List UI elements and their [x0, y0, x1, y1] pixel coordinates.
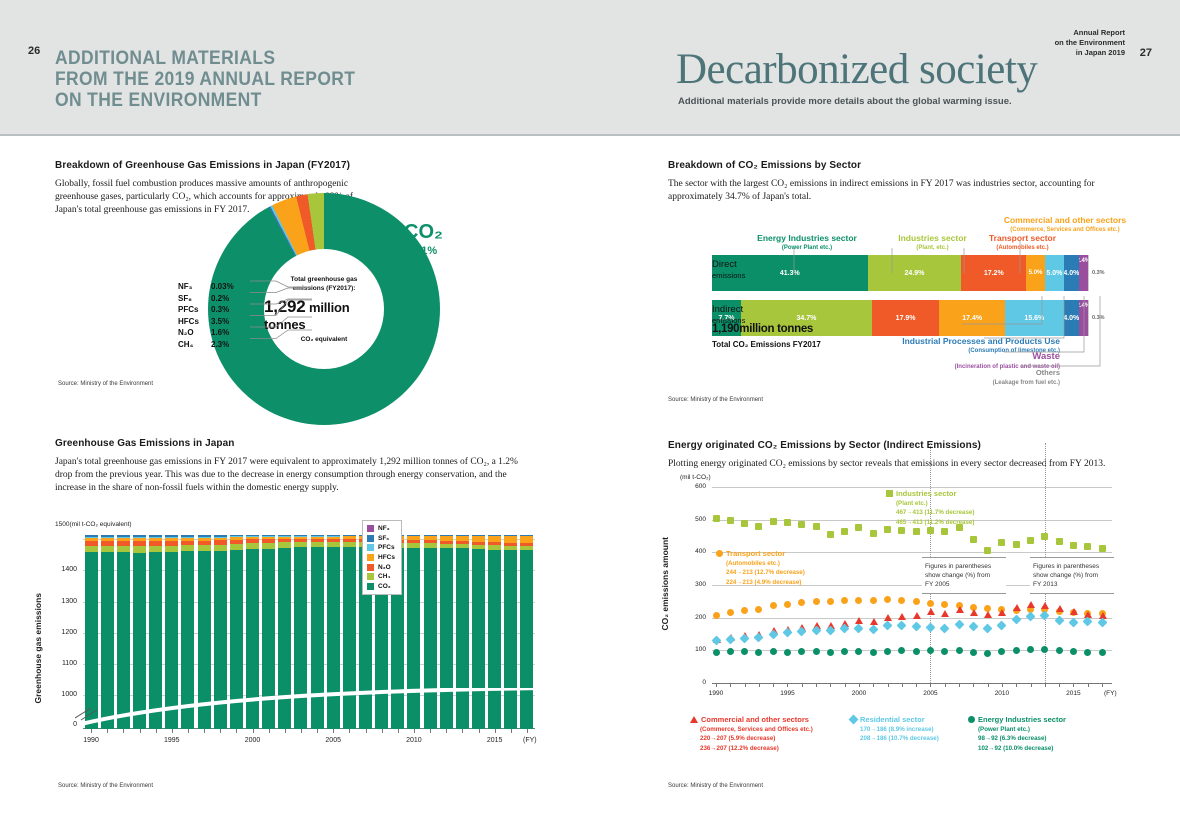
ghg-x-tick [140, 729, 141, 733]
ghg-stacked-bar-chart: 1500(mil t-CO₂ equivalent) Greenhouse ga… [55, 533, 535, 758]
scatter-data-point [984, 547, 991, 554]
scatter-data-point [927, 608, 935, 615]
scatter-data-point [954, 619, 964, 629]
ghg-legend-item: SF₆ [367, 534, 395, 544]
scatter-data-point [1099, 649, 1106, 656]
source-scatter: Source: Ministry of the Environment [668, 783, 763, 789]
scatter-data-point [1070, 648, 1077, 655]
scatter-x-tick [787, 683, 788, 687]
donut-legend-gas: NF₃ [178, 282, 211, 291]
scatter-legend-item: Commercial and other sectors(Commerce, S… [690, 715, 813, 753]
scatter-data-point [1026, 612, 1036, 622]
ghg-x-tick [430, 729, 431, 733]
scatter-legend-header: Energy Industries sector [968, 715, 1066, 725]
ghg-legend: NF₃SF₆PFCsHFCsN₂OCH₄CO₂ [362, 520, 402, 595]
scatter-data-point [913, 528, 920, 535]
scatter-x-tick [816, 683, 817, 687]
scatter-x-tick [1088, 683, 1089, 687]
scatter-x-tick [916, 683, 917, 687]
scatter-legend-name: Transport sector [726, 549, 785, 558]
ghg-legend-label: CH₄ [378, 573, 391, 580]
scatter-data-point [941, 648, 948, 655]
donut-legend-value: 1.6% [211, 328, 251, 337]
scatter-data-point [956, 647, 963, 654]
header-band: 26 ADDITIONAL MATERIALS FROM THE 2019 AN… [0, 0, 1180, 136]
scatter-x-tick [873, 683, 874, 687]
ghg-x-tick [236, 729, 237, 733]
scatter-annotation-line: show change (%) from [1033, 571, 1111, 580]
donut-legend-value: 3.5% [211, 317, 251, 326]
scatter-data-point [956, 606, 964, 613]
scatter-legend-sub: (Commerce, Services and Offices etc.) [700, 725, 813, 735]
right-page-subtitle: Additional materials provide more detail… [678, 96, 1012, 107]
scatter-data-point [970, 609, 978, 616]
scatter-x-tick [973, 683, 974, 687]
scatter-y-tick-label: 500 [680, 516, 706, 523]
scatter-annotation: Figures in parenthesesshow change (%) fr… [922, 557, 1006, 594]
report-meta-line-3: in Japan 2019 [1055, 48, 1125, 58]
scatter-legend-marker-icon [849, 715, 859, 725]
ghg-y-tick-label-zero: 0 [53, 721, 77, 728]
scatter-data-point [841, 597, 848, 604]
scatter-y-axis-title: CO₂ emissions amount [660, 537, 670, 631]
scatter-legend-header: Commercial and other sectors [690, 715, 813, 725]
scatter-data-point [770, 648, 777, 655]
scatter-data-point [884, 648, 891, 655]
source-sector: Source: Ministry of the Environment [668, 397, 763, 403]
scatter-data-point [870, 530, 877, 537]
scatter-data-point [984, 650, 991, 657]
scatter-data-point [741, 520, 748, 527]
donut-legend-value: 0.03% [211, 282, 251, 291]
left-page-title: ADDITIONAL MATERIALS FROM THE 2019 ANNUA… [55, 48, 355, 111]
scatter-legend-marker-icon [968, 716, 975, 723]
scatter-x-tick [945, 683, 946, 687]
ghg-y-tick-label: 1400 [53, 566, 77, 573]
sector-callout-name: Others [1036, 368, 1060, 377]
scatter-data-point [1013, 541, 1020, 548]
ghg-legend-label: N₂O [378, 564, 391, 571]
scatter-data-point [741, 648, 748, 655]
scatter-legend-fig2: 465→413 (11.2% decrease) [896, 518, 974, 528]
ghg-legend-item: PFCs [367, 543, 395, 553]
scatter-data-point [941, 610, 949, 617]
ghg-x-tick [511, 729, 512, 733]
scatter-data-point [883, 621, 893, 631]
scatter-data-point [784, 649, 791, 656]
ghg-axis-break-curve [81, 688, 551, 728]
scatter-y-tick-label: 200 [680, 614, 706, 621]
scatter-data-point [898, 647, 905, 654]
scatter-data-point [940, 624, 950, 634]
donut-legend-value: 2.3% [211, 340, 251, 349]
panel-title-ghg-timeseries: Greenhouse Gas Emissions in Japan [55, 438, 535, 449]
scatter-legend-fig2: 224→213 (4.9% decrease) [726, 578, 805, 588]
ghg-x-tick [269, 729, 270, 733]
ghg-y-tick-label: 1300 [53, 598, 77, 605]
scatter-data-point [727, 517, 734, 524]
scatter-gridline [712, 683, 1112, 684]
scatter-data-point [897, 620, 907, 630]
scatter-x-tick [745, 683, 746, 687]
ghg-legend-swatch [367, 573, 374, 580]
scatter-x-tick-label: 2015 [1062, 690, 1084, 697]
scatter-legend-name: Industries sector [896, 489, 956, 498]
right-page-title: Decarbonized society [676, 45, 1037, 94]
ghg-legend-label: HFCs [378, 554, 395, 561]
panel-title-sector: Breakdown of CO₂ Emissions by Sector [668, 160, 1118, 171]
ghg-x-tick [172, 729, 173, 733]
scatter-data-point [997, 620, 1007, 630]
ghg-y-tick-label: 1100 [53, 660, 77, 667]
scatter-legend-header: Transport sector [716, 549, 805, 559]
page-number-left: 26 [28, 45, 40, 57]
scatter-legend-fig2: 102→92 (10.0% decrease) [978, 744, 1066, 754]
ghg-bar-segment [101, 546, 114, 553]
scatter-data-point [1013, 604, 1021, 611]
scatter-annotation-line: FY 2013 [1033, 580, 1111, 589]
scatter-legend-marker-icon [690, 716, 698, 723]
scatter-x-tick [830, 683, 831, 687]
left-title-line-3: ON THE ENVIRONMENT [55, 90, 355, 111]
report-meta: Annual Report on the Environment in Japa… [1055, 28, 1125, 58]
scatter-data-point [927, 600, 934, 607]
ghg-x-tick-label: 2000 [241, 737, 265, 744]
ghg-legend-swatch [367, 583, 374, 590]
scatter-data-point [855, 597, 862, 604]
scatter-data-point [927, 647, 934, 654]
ghg-x-tick [156, 729, 157, 733]
ghg-bar-segment [117, 546, 130, 553]
scatter-x-tick [1031, 683, 1032, 687]
scatter-x-tick [759, 683, 760, 687]
ghg-bar-segment [85, 546, 98, 553]
ghg-legend-label: NF₃ [378, 525, 390, 532]
ghg-x-unit-label: (FY) [523, 737, 537, 744]
scatter-data-point [727, 648, 734, 655]
ghg-legend-item: N₂O [367, 562, 395, 572]
donut-legend-value: 0.3% [211, 305, 251, 314]
scatter-data-point [713, 649, 720, 656]
scatter-data-point [755, 649, 762, 656]
scatter-legend-fig1: 244→213 (12.7% decrease) [726, 568, 805, 578]
scatter-legend-sub: (Plant etc.) [896, 499, 974, 509]
sector-callout-name: Commercial and other sectors [1004, 215, 1126, 225]
scatter-data-point [813, 523, 820, 530]
scatter-data-point [941, 528, 948, 535]
report-meta-line-2: on the Environment [1055, 38, 1125, 48]
scatter-data-point [970, 649, 977, 656]
ghg-x-tick [253, 729, 254, 733]
scatter-legend-item: Industries sector(Plant etc.)467→413 (11… [886, 489, 974, 527]
scatter-legend-sub: (Power Plant etc.) [978, 725, 1066, 735]
scatter-data-point [913, 612, 921, 619]
scatter-data-point [1027, 601, 1035, 608]
scatter-x-tick [888, 683, 889, 687]
donut-legend-gas: CH₄ [178, 340, 211, 349]
ghg-x-tick [446, 729, 447, 733]
ghg-legend-label: SF₆ [378, 535, 389, 542]
scatter-x-tick-label: 1990 [705, 690, 727, 697]
scatter-x-tick [959, 683, 960, 687]
scatter-data-point [784, 519, 791, 526]
ghg-legend-label: CO₂ [378, 583, 391, 590]
ghg-x-tick-label: 2015 [483, 737, 507, 744]
scatter-y-unit: (mil t-CO₂) [680, 474, 711, 481]
scatter-x-tick [802, 683, 803, 687]
scatter-x-tick [1045, 683, 1046, 687]
scatter-data-point [870, 649, 877, 656]
scatter-data-point [784, 601, 791, 608]
scatter-x-tick [930, 683, 931, 687]
ghg-legend-item: CO₂ [367, 582, 395, 592]
scatter-y-tick-label: 400 [680, 548, 706, 555]
scatter-data-point [727, 609, 734, 616]
scatter-data-point [884, 596, 891, 603]
scatter-data-point [755, 523, 762, 530]
scatter-x-tick [1102, 683, 1103, 687]
scatter-data-point [827, 531, 834, 538]
scatter-legend-name: Commercial and other sectors [701, 715, 809, 724]
scatter-legend-fig1: 467→413 (11.7% decrease) [896, 508, 974, 518]
scatter-data-point [798, 648, 805, 655]
ghg-y-unit: 1500(mil t-CO₂ equivalent) [55, 521, 132, 528]
scatter-data-point [913, 598, 920, 605]
scatter-data-point [968, 622, 978, 632]
scatter-legend-item: Transport sector(Automobiles etc.)244→21… [716, 549, 805, 587]
scatter-data-point [970, 536, 977, 543]
scatter-x-tick-label: 2000 [848, 690, 870, 697]
scatter-data-point [813, 648, 820, 655]
source-ghg-timeseries: Source: Ministry of the Environment [58, 783, 153, 789]
ghg-x-tick-label: 1995 [160, 737, 184, 744]
scatter-y-tick-label: 300 [680, 581, 706, 588]
panel-sector-breakdown: Breakdown of CO₂ Emissions by Sector The… [668, 160, 1118, 204]
scatter-annotation-line: show change (%) from [925, 571, 1003, 580]
scatter-legend-marker-icon [716, 550, 723, 557]
donut-legend-gas: HFCs [178, 317, 211, 326]
sector-callout-sub: (Leakage from fuel etc.) [870, 378, 1060, 388]
sector-callout-bottom: Others(Leakage from fuel etc.) [870, 368, 1060, 388]
ghg-x-tick [317, 729, 318, 733]
scatter-data-point [868, 624, 878, 634]
scatter-x-tick [859, 683, 860, 687]
scatter-legend-name: Residential sector [860, 715, 925, 724]
scatter-y-tick-label: 0 [680, 679, 706, 686]
scatter-data-point [1056, 538, 1063, 545]
scatter-legend-fig1: 170→186 (8.9% increase) [860, 725, 939, 735]
ghg-x-tick-label: 2005 [321, 737, 345, 744]
donut-legend-gas: PFCs [178, 305, 211, 314]
scatter-data-point [1013, 647, 1020, 654]
scatter-data-point [798, 521, 805, 528]
scatter-data-point [798, 599, 805, 606]
scatter-data-point [1054, 615, 1064, 625]
panel-desc-ghg-timeseries: Japan's total greenhouse gas emissions i… [55, 456, 535, 495]
scatter-data-point [713, 515, 720, 522]
ghg-x-tick [479, 729, 480, 733]
ghg-x-tick [495, 729, 496, 733]
panel-energy-co2-scatter: Energy originated CO₂ Emissions by Secto… [668, 440, 1138, 471]
scatter-data-point [741, 607, 748, 614]
scatter-legend-header: Industries sector [886, 489, 974, 499]
ghg-x-tick-label: 2010 [402, 737, 426, 744]
scatter-data-point [998, 609, 1006, 616]
ghg-y-tick-label: 1000 [53, 691, 77, 698]
scatter-data-point [813, 598, 820, 605]
energy-co2-scatter-chart: (mil t-CO₂) CO₂ emissions amount 6005004… [690, 487, 1120, 709]
ghg-legend-swatch [367, 554, 374, 561]
ghg-x-tick [414, 729, 415, 733]
scatter-legend-fig2: 208→186 (10.7% decrease) [860, 734, 939, 744]
ghg-x-tick [123, 729, 124, 733]
panel-title-ghg-breakdown: Breakdown of Greenhouse Gas Emissions in… [55, 160, 355, 171]
scatter-data-point [1070, 608, 1078, 615]
donut-legend-value: 0.2% [211, 294, 251, 303]
ghg-bar-segment [520, 536, 533, 543]
scatter-data-point [827, 598, 834, 605]
ghg-x-tick [462, 729, 463, 733]
ghg-x-tick [107, 729, 108, 733]
scatter-data-point [1041, 646, 1048, 653]
ghg-x-tick [398, 729, 399, 733]
ghg-legend-item: CH₄ [367, 572, 395, 582]
scatter-data-point [925, 623, 935, 633]
scatter-x-tick [773, 683, 774, 687]
donut-leader-lines [250, 275, 320, 347]
scatter-legend-fig1: 220→207 (5.9% decrease) [700, 734, 813, 744]
scatter-x-tick [902, 683, 903, 687]
panel-title-scatter: Energy originated CO₂ Emissions by Secto… [668, 440, 1138, 451]
page-number-right: 27 [1140, 47, 1152, 59]
scatter-x-tick [1002, 683, 1003, 687]
panel-desc-scatter: Plotting energy originated CO₂ emissions… [668, 458, 1138, 471]
scatter-annotation-line: Figures in parentheses [1033, 562, 1111, 571]
scatter-data-point [841, 528, 848, 535]
scatter-x-tick [988, 683, 989, 687]
scatter-legend-name: Energy Industries sector [978, 715, 1066, 724]
scatter-data-point [1027, 537, 1034, 544]
scatter-legend-fig1: 98→92 (6.3% decrease) [978, 734, 1066, 744]
scatter-data-point [870, 597, 877, 604]
scatter-data-point [1083, 616, 1093, 626]
ghg-legend-swatch [367, 525, 374, 532]
ghg-legend-swatch [367, 564, 374, 571]
scatter-x-tick [730, 683, 731, 687]
donut-legend-gas: N₂O [178, 328, 211, 337]
ghg-x-tick [301, 729, 302, 733]
scatter-data-point [755, 606, 762, 613]
scatter-x-tick [1016, 683, 1017, 687]
scatter-data-point [1084, 543, 1091, 550]
scatter-legend-marker-icon [886, 490, 893, 497]
scatter-annotation-line: Figures in parentheses [925, 562, 1003, 571]
panel-desc-sector: The sector with the largest CO₂ emission… [668, 178, 1118, 204]
scatter-data-point [898, 597, 905, 604]
sector-leader-lines [712, 228, 1132, 368]
scatter-data-point [1041, 533, 1048, 540]
scatter-x-unit-label: (FY) [1104, 690, 1117, 697]
scatter-data-point [984, 611, 992, 618]
scatter-y-tick-label: 600 [680, 483, 706, 490]
donut-legend-gas: SF₆ [178, 294, 211, 303]
ghg-x-tick [91, 729, 92, 733]
scatter-x-tick [1073, 683, 1074, 687]
ghg-x-tick [204, 729, 205, 733]
scatter-legend-item: Residential sector170→186 (8.9% increase… [850, 715, 939, 744]
scatter-data-point [1084, 649, 1091, 656]
ghg-x-tick [333, 729, 334, 733]
scatter-data-point [713, 612, 720, 619]
scatter-data-point [855, 617, 863, 624]
scatter-data-point [941, 601, 948, 608]
left-title-line-2: FROM THE 2019 ANNUAL REPORT [55, 69, 355, 90]
scatter-data-point [1011, 615, 1021, 625]
scatter-legend-sub: (Automobiles etc.) [726, 559, 805, 569]
ghg-legend-swatch [367, 544, 374, 551]
donut-co2-percent: 92.1% [406, 245, 437, 257]
scatter-data-point [1041, 602, 1049, 609]
scatter-data-point [770, 518, 777, 525]
donut-co2-label: CO₂ [404, 222, 443, 242]
scatter-annotation-line: FY 2005 [925, 580, 1003, 589]
ghg-x-tick [188, 729, 189, 733]
ghg-x-tick [527, 729, 528, 733]
scatter-data-point [1027, 646, 1034, 653]
scatter-data-point [855, 524, 862, 531]
scatter-data-point [827, 649, 834, 656]
scatter-x-tick [1059, 683, 1060, 687]
scatter-data-point [1056, 647, 1063, 654]
scatter-y-tick-label: 100 [680, 646, 706, 653]
ghg-x-tick [220, 729, 221, 733]
scatter-data-point [1070, 542, 1077, 549]
scatter-data-point [911, 621, 921, 631]
scatter-x-tick [716, 683, 717, 687]
scatter-data-point [1099, 545, 1106, 552]
report-meta-line-1: Annual Report [1055, 28, 1125, 38]
scatter-legend-fig2: 236→207 (12.2% decrease) [700, 744, 813, 754]
scatter-data-point [855, 648, 862, 655]
scatter-x-tick-label: 2005 [919, 690, 941, 697]
scatter-data-point [898, 613, 906, 620]
ghg-legend-item: NF₃ [367, 524, 395, 534]
scatter-legend-item: Energy Industries sector(Power Plant etc… [968, 715, 1066, 753]
ghg-y-tick-label: 1200 [53, 629, 77, 636]
ghg-legend-label: PFCs [378, 544, 395, 551]
ghg-x-tick-label: 1990 [79, 737, 103, 744]
scatter-data-point [998, 648, 1005, 655]
scatter-data-point [898, 527, 905, 534]
scatter-legend-header: Residential sector [850, 715, 939, 725]
scatter-x-tick-label: 1995 [776, 690, 798, 697]
scatter-data-point [983, 623, 993, 633]
ghg-x-tick [285, 729, 286, 733]
scatter-data-point [841, 648, 848, 655]
ghg-x-tick [382, 729, 383, 733]
scatter-data-point [927, 527, 934, 534]
scatter-data-point [998, 539, 1005, 546]
scatter-data-point [770, 602, 777, 609]
scatter-data-point [1068, 617, 1078, 627]
source-ghg-breakdown: Source: Ministry of the Environment [58, 381, 153, 387]
scatter-annotation: Figures in parenthesesshow change (%) fr… [1030, 557, 1114, 594]
scatter-data-point [913, 648, 920, 655]
panel-ghg-timeseries: Greenhouse Gas Emissions in Japan Japan'… [55, 438, 535, 495]
ghg-y-axis-title: Greenhouse gas emissions [33, 593, 43, 704]
ghg-bar-segment [133, 546, 146, 553]
scatter-x-tick [845, 683, 846, 687]
